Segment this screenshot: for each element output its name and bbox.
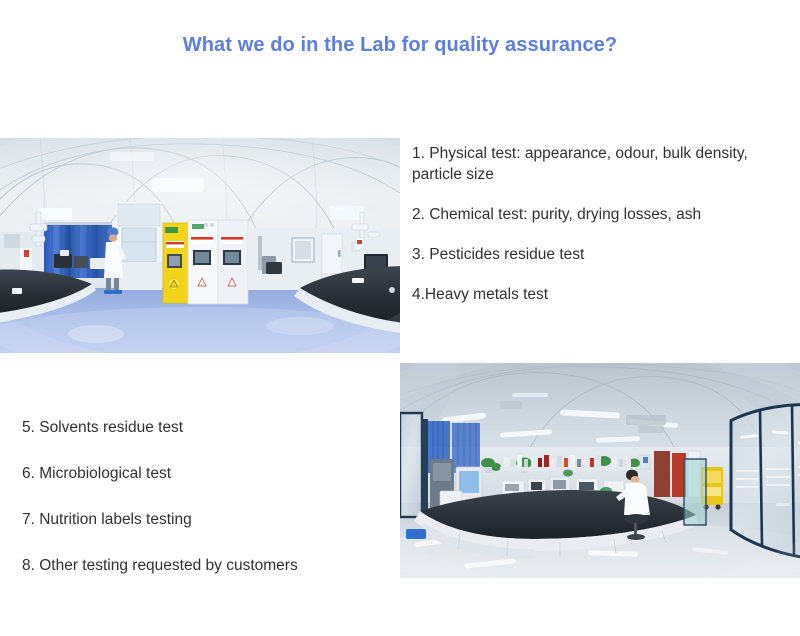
test-item-8: 8. Other testing requested by customers: [22, 556, 392, 577]
test-item-6: 6. Microbiological test: [22, 464, 392, 485]
lab-panorama-cleanroom-image: [0, 138, 400, 353]
lab-panorama-instrument-room-image: [400, 363, 800, 578]
tests-list-left: 5. Solvents residue test 6. Microbiologi…: [22, 418, 392, 602]
test-item-7: 7. Nutrition labels testing: [22, 510, 392, 531]
yellow-safety-cabinet: [163, 223, 188, 303]
page-title: What we do in the Lab for quality assura…: [0, 34, 800, 57]
test-item-2: 2. Chemical test: purity, drying losses,…: [412, 205, 794, 226]
test-item-1: 1. Physical test: appearance, odour, bul…: [412, 144, 794, 186]
gas-cabinets: [188, 220, 248, 304]
test-item-4: 4.Heavy metals test: [412, 285, 794, 306]
instrument-room-scene: [400, 363, 800, 578]
slide-canvas: What we do in the Lab for quality assura…: [0, 0, 800, 636]
glass-partition-wall: [730, 405, 800, 559]
tests-list-right: 1. Physical test: appearance, odour, bul…: [412, 144, 794, 306]
test-item-3: 3. Pesticides residue test: [412, 245, 794, 266]
cleanroom-scene: [0, 138, 400, 353]
test-item-5: 5. Solvents residue test: [22, 418, 392, 439]
